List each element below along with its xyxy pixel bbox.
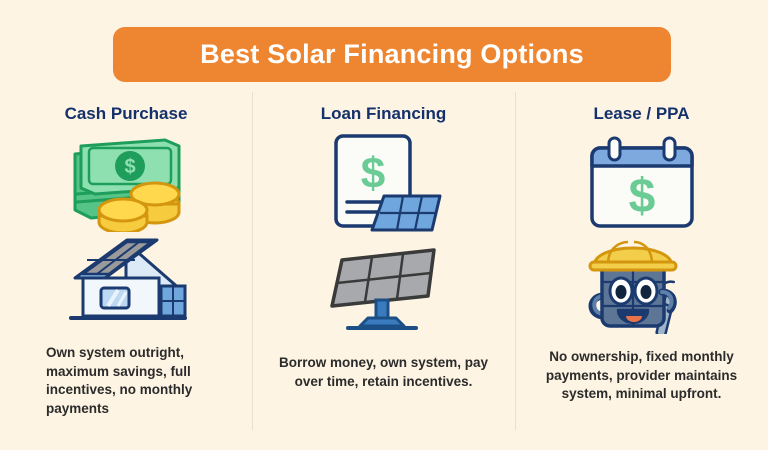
svg-text:$: $	[628, 170, 655, 223]
solar-panel-array-icon	[314, 238, 454, 334]
column-description-lease-ppa: No ownership, fixed monthly payments, pr…	[533, 348, 750, 404]
column-loan-financing: Loan Financing $	[252, 92, 515, 432]
column-icons-cash-purchase: $	[61, 124, 191, 330]
svg-text:$: $	[124, 156, 135, 178]
column-icons-lease-ppa: $	[574, 124, 710, 334]
title-banner: Best Solar Financing Options	[113, 27, 671, 82]
column-cash-purchase: Cash Purchase $	[0, 92, 252, 432]
infographic-root: Best Solar Financing Options Cash Purcha…	[0, 0, 768, 450]
column-description-cash-purchase: Own system outright, maximum savings, fu…	[46, 344, 206, 419]
column-heading-cash-purchase: Cash Purchase	[65, 92, 188, 124]
column-icons-loan-financing: $	[314, 124, 454, 334]
solar-technician-mascot-icon	[574, 234, 710, 334]
solar-house-icon	[61, 230, 191, 330]
column-description-loan-financing: Borrow money, own system, pay over time,…	[276, 354, 491, 391]
column-lease-ppa: Lease / PPA $	[515, 92, 768, 432]
calendar-payment-icon: $	[576, 132, 708, 232]
page-title: Best Solar Financing Options	[200, 41, 584, 68]
cash-stack-icon: $	[61, 132, 191, 232]
loan-document-icon: $	[314, 130, 454, 232]
svg-text:$: $	[360, 149, 384, 198]
column-heading-loan-financing: Loan Financing	[321, 92, 447, 124]
columns-container: Cash Purchase $	[0, 92, 768, 432]
column-heading-lease-ppa: Lease / PPA	[593, 92, 689, 124]
